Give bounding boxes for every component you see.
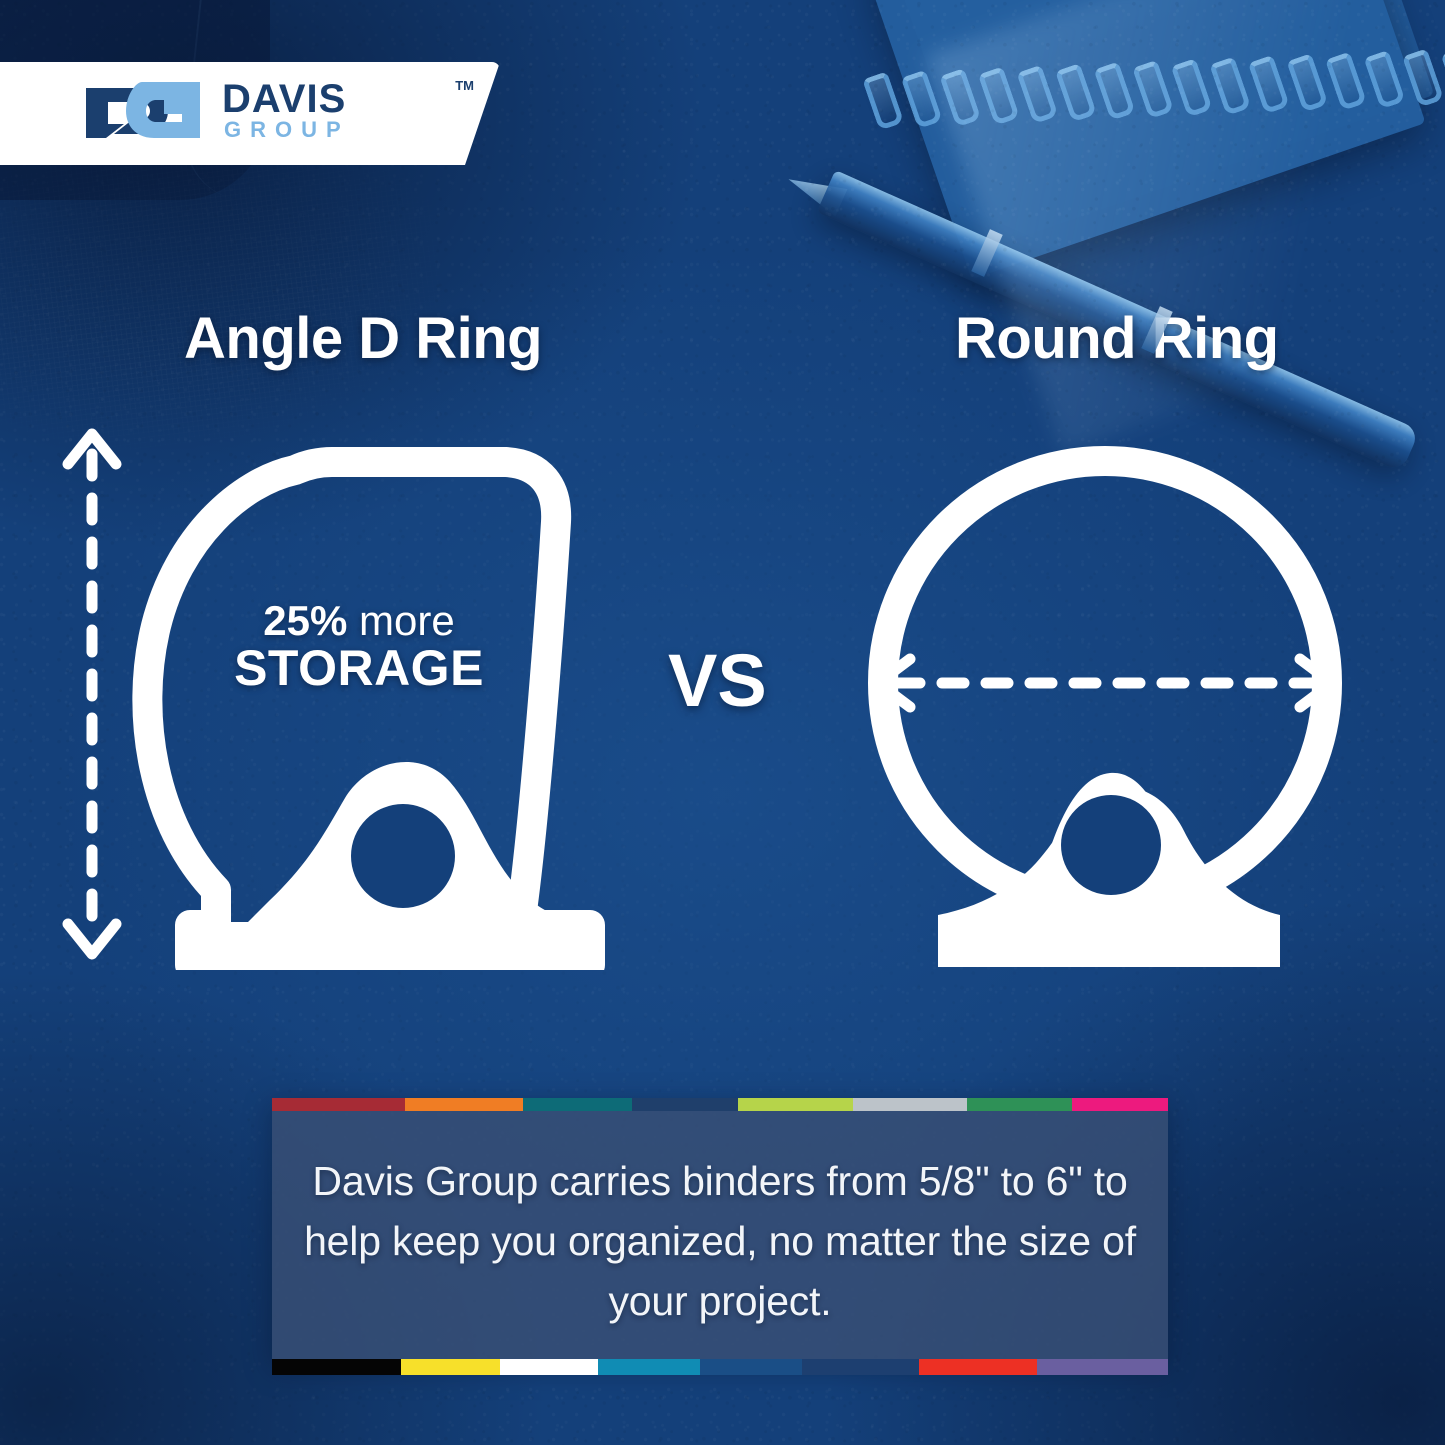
stripe-bottom-segment-1 [401,1359,500,1375]
stripe-bottom-segment-2 [500,1359,599,1375]
storage-badge: 25% more STORAGE [228,600,490,694]
versus-label: VS [668,638,767,723]
storage-badge-line2: STORAGE [228,643,490,694]
stripe-top-segment-4 [738,1098,853,1111]
stripe-bottom-segment-7 [1037,1359,1168,1375]
svg-text:DAVIS: DAVIS [222,80,346,121]
brand-logo-banner: DAVIS GROUP TM [0,62,500,165]
vertical-height-arrow-icon [60,428,124,960]
heading-angle-d-ring: Angle D Ring [184,305,542,372]
storage-percent-value: 25% [263,597,347,644]
stripe-top-segment-7 [1072,1098,1168,1111]
svg-text:GROUP: GROUP [224,117,350,142]
stripe-bottom-segment-6 [919,1359,1037,1375]
stripe-bottom-segment-0 [272,1359,401,1375]
stripe-top-segment-0 [272,1098,405,1111]
infographic-canvas: DAVIS GROUP TM Angle D Ring Round Ring 2… [0,0,1445,1445]
stripe-top-segment-2 [523,1098,632,1111]
stripe-top-segment-3 [632,1098,738,1111]
color-stripe-top [272,1098,1168,1111]
stripe-bottom-segment-4 [700,1359,802,1375]
stripe-bottom-segment-5 [802,1359,918,1375]
stripe-bottom-segment-3 [598,1359,700,1375]
round-ring-illustration [860,415,1360,975]
davis-group-monogram-icon [84,80,202,147]
brand-wordmark: DAVIS GROUP TM [222,80,458,147]
angle-d-ring-illustration [120,430,640,970]
trademark-symbol: TM [455,78,474,93]
callout-message: Davis Group carries binders from 5/8" to… [300,1152,1140,1332]
color-stripe-bottom [272,1359,1168,1375]
callout-panel: Davis Group carries binders from 5/8" to… [272,1098,1168,1363]
storage-badge-line1: 25% more [228,600,490,643]
stripe-top-segment-1 [405,1098,523,1111]
storage-more-word: more [347,597,454,644]
heading-round-ring: Round Ring [955,305,1279,372]
stripe-top-segment-6 [967,1098,1072,1111]
stripe-top-segment-5 [853,1098,968,1111]
